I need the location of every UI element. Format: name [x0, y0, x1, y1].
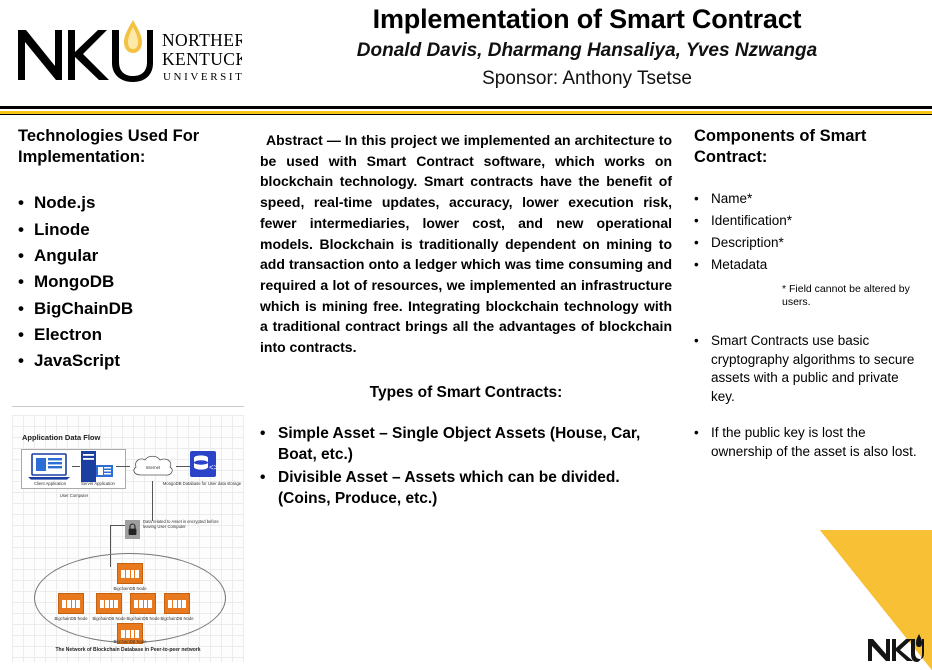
poster-canvas: NORTHERN KENTUCKY UNIVERSITY Implementat… — [0, 0, 932, 670]
bullet-icon: • — [260, 468, 278, 510]
connector-line — [72, 466, 80, 467]
list-item: • MongoDB — [18, 269, 240, 295]
blockchain-node — [58, 593, 84, 614]
notes-list: • Smart Contracts use basic cryptography… — [694, 332, 918, 462]
nku-corner-logo — [866, 634, 924, 664]
application-data-flow-diagram: Application Data Flow Client Application — [12, 415, 244, 662]
nku-logo: NORTHERN KENTUCKY UNIVERSITY — [12, 18, 242, 90]
bullet-icon: • — [694, 254, 711, 276]
connector-line — [152, 481, 153, 521]
svg-text:<>: <> — [209, 463, 216, 472]
middle-column: Abstract — In this project we implemente… — [250, 118, 680, 670]
list-item-label: If the public key is lost the ownership … — [711, 424, 918, 461]
list-item: • JavaScript — [18, 348, 240, 374]
blockchain-node — [164, 593, 190, 614]
bullet-icon: • — [18, 322, 34, 348]
logo-line-northern: NORTHERN — [162, 30, 242, 50]
list-item-label: Divisible Asset – Assets which can be di… — [278, 468, 672, 510]
lock-note-label: Data related to Asset is encrypted befor… — [143, 519, 229, 529]
bullet-icon: • — [694, 424, 711, 461]
blockchain-node — [130, 593, 156, 614]
bullet-icon: • — [18, 269, 34, 295]
user-computer-label: User Computer — [32, 493, 116, 498]
list-item: • Electron — [18, 322, 240, 348]
list-item: • Name* — [694, 188, 918, 210]
blockchain-node — [96, 593, 122, 614]
logo-line-kentucky: KENTUCKY — [162, 49, 242, 69]
bullet-icon: • — [694, 188, 711, 210]
components-footnote: * Field cannot be altered by users. — [782, 283, 918, 310]
bullet-icon: • — [18, 217, 34, 243]
database-label: MongoDB Database for User data storage — [162, 481, 242, 486]
list-item-label: Node.js — [34, 190, 95, 216]
node-blocks-icon — [62, 600, 80, 608]
list-item: • If the public key is lost the ownershi… — [694, 424, 918, 461]
node-label: BigchainDB Node — [151, 616, 203, 621]
list-item-label: Simple Asset – Single Object Assets (Hou… — [278, 424, 672, 466]
connector-line — [176, 466, 190, 467]
left-column: Technologies Used For Implementation: • … — [0, 118, 250, 670]
lock-icon — [125, 520, 140, 539]
padlock-glyph-icon — [125, 520, 140, 539]
components-heading: Components of Smart Contract: — [694, 126, 918, 168]
technologies-heading: Technologies Used For Implementation: — [18, 126, 240, 168]
node-blocks-icon — [168, 600, 186, 608]
list-item-label: Name* — [711, 188, 752, 210]
list-item-label: MongoDB — [34, 269, 114, 295]
client-application-icon — [28, 453, 70, 480]
bullet-icon: • — [694, 332, 711, 407]
list-item: • Smart Contracts use basic cryptography… — [694, 332, 918, 407]
list-item-label: Smart Contracts use basic cryptography a… — [711, 332, 918, 407]
list-item: • Identification* — [694, 210, 918, 232]
poster-body: Technologies Used For Implementation: • … — [0, 118, 932, 670]
list-item-label: Electron — [34, 322, 102, 348]
technologies-list: • Node.js • Linode • Angular • MongoDB • — [18, 190, 240, 374]
list-item: • Divisible Asset – Assets which can be … — [260, 468, 672, 510]
blockchain-node — [117, 563, 143, 584]
page-title: Implementation of Smart Contract — [250, 4, 924, 36]
types-heading: Types of Smart Contracts: — [260, 384, 672, 402]
author-list: Donald Davis, Dharmang Hansaliya, Yves N… — [250, 38, 924, 64]
sponsor-line: Sponsor: Anthony Tsetse — [250, 66, 924, 92]
bullet-icon: • — [694, 210, 711, 232]
list-item-label: Description* — [711, 232, 784, 254]
list-item-label: JavaScript — [34, 348, 120, 374]
bullet-icon: • — [18, 348, 34, 374]
diagram-caption: The Network of Blockchain Database in Pe… — [12, 647, 244, 653]
node-label: BigchainDB Node — [104, 639, 156, 644]
node-blocks-icon — [121, 570, 139, 578]
title-block: Implementation of Smart Contract Donald … — [250, 4, 924, 91]
mongodb-database-icon: <> — [190, 451, 216, 477]
list-item: • Description* — [694, 232, 918, 254]
abstract-text: Abstract — In this project we implemente… — [260, 130, 672, 358]
list-item: • Metadata — [694, 254, 918, 276]
list-item-label: Linode — [34, 217, 90, 243]
node-label: BigchainDB Node — [104, 586, 156, 591]
list-item-label: Identification* — [711, 210, 792, 232]
poster-header: NORTHERN KENTUCKY UNIVERSITY Implementat… — [0, 0, 932, 106]
nku-corner-logo-svg — [866, 634, 924, 664]
logo-line-university: UNIVERSITY — [163, 71, 242, 83]
bullet-icon: • — [18, 296, 34, 322]
server-application-icon — [78, 451, 114, 482]
node-blocks-icon — [121, 630, 139, 638]
list-item: • Simple Asset – Single Object Assets (H… — [260, 424, 672, 466]
header-divider-black-bottom — [0, 114, 932, 115]
left-column-divider — [12, 406, 244, 407]
bullet-icon: • — [18, 243, 34, 269]
node-blocks-icon — [100, 600, 118, 608]
list-item-label: Metadata — [711, 254, 767, 276]
connector-line — [116, 466, 130, 467]
nku-logo-svg: NORTHERN KENTUCKY UNIVERSITY — [12, 18, 242, 90]
internet-label: Internet — [130, 465, 176, 470]
server-application-label: Server Application — [70, 481, 126, 486]
connector-line — [110, 525, 126, 526]
bullet-icon: • — [694, 232, 711, 254]
diagram-title: Application Data Flow — [22, 433, 100, 442]
list-item: • Node.js — [18, 190, 240, 216]
list-item-label: BigChainDB — [34, 296, 133, 322]
list-item-label: Angular — [34, 243, 98, 269]
bullet-icon: • — [18, 190, 34, 216]
list-item: • BigChainDB — [18, 296, 240, 322]
node-blocks-icon — [134, 600, 152, 608]
database-cylinder-icon: <> — [190, 451, 216, 477]
bullet-icon: • — [260, 424, 278, 466]
list-item: • Linode — [18, 217, 240, 243]
components-list: • Name* • Identification* • Description*… — [694, 188, 918, 275]
types-list: • Simple Asset – Single Object Assets (H… — [260, 424, 672, 510]
list-item: • Angular — [18, 243, 240, 269]
